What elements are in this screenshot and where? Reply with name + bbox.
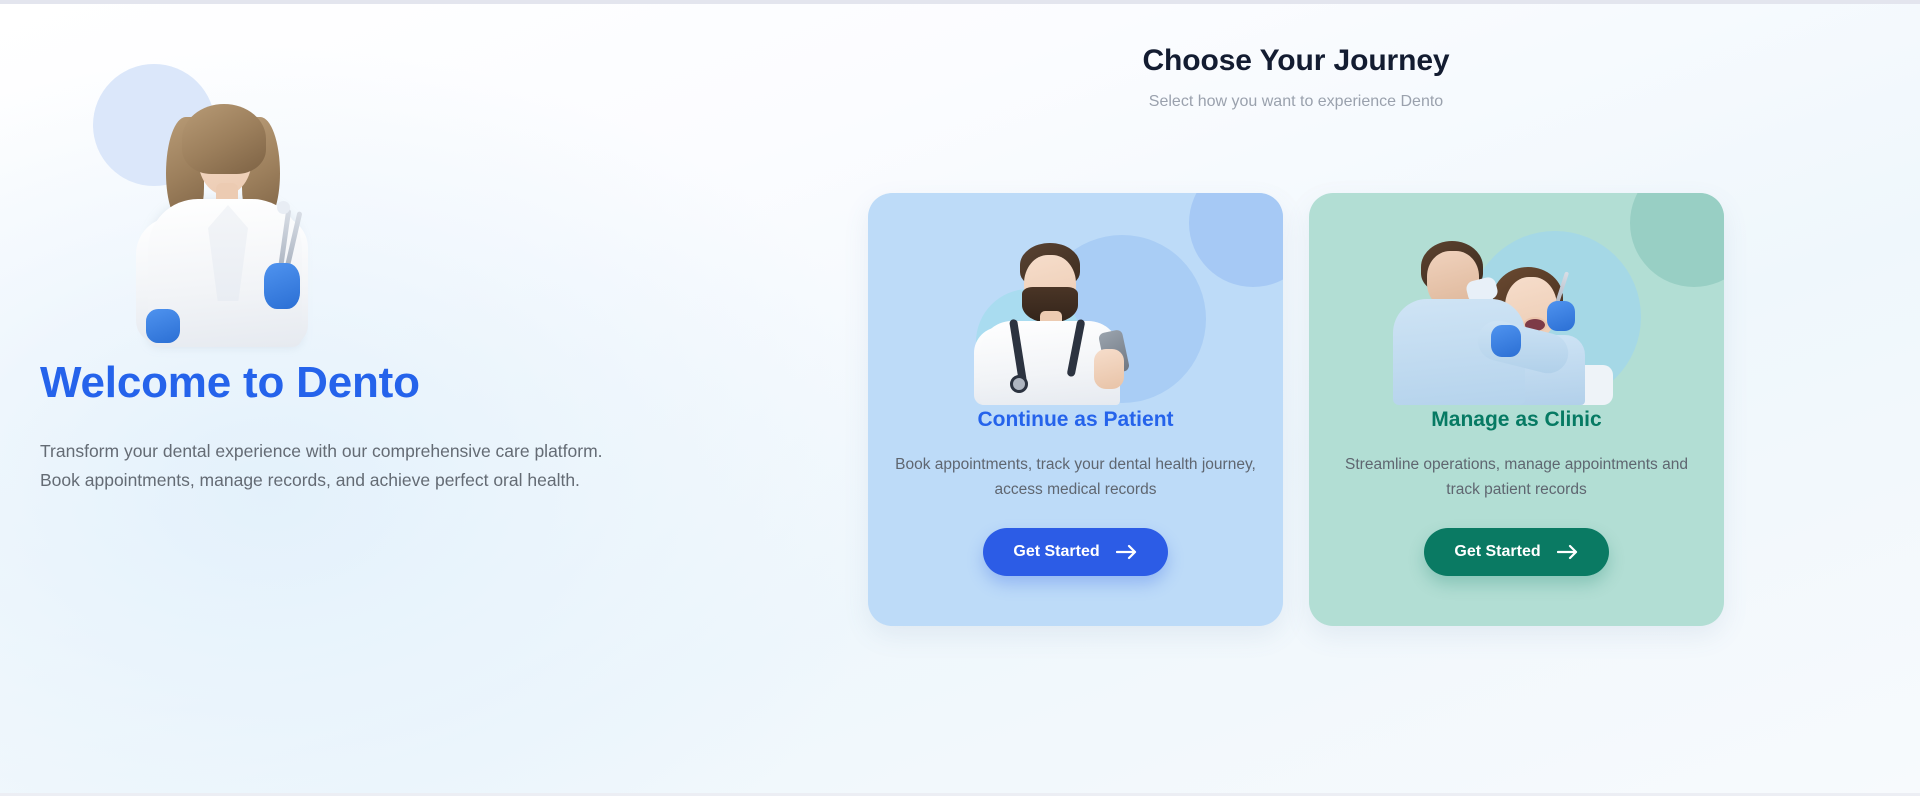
clinic-card-title: Manage as Clinic [1335, 408, 1698, 432]
figure-glove-left [146, 309, 180, 343]
patient-card-illustration [868, 215, 1283, 403]
card-continue-as-patient[interactable]: Continue as Patient Book appointments, t… [868, 193, 1283, 626]
card-manage-as-clinic[interactable]: Manage as Clinic Streamline operations, … [1309, 193, 1724, 626]
patient-get-started-button[interactable]: Get Started [983, 528, 1167, 576]
journey-cards: Continue as Patient Book appointments, t… [672, 193, 1920, 626]
dentist-glove-right [1547, 301, 1575, 331]
page-root: Welcome to Dento Transform your dental e… [0, 0, 1920, 796]
journey-subtitle: Select how you want to experience Dento [672, 93, 1920, 111]
arrow-right-icon [1116, 544, 1138, 560]
clinic-card-description: Streamline operations, manage appointmen… [1335, 452, 1698, 502]
patient-card-title: Continue as Patient [894, 408, 1257, 432]
journey-header: Choose Your Journey Select how you want … [672, 44, 1920, 111]
arrow-right-icon [1557, 544, 1579, 560]
hero-illustration [70, 59, 400, 319]
clinic-card-illustration [1309, 215, 1724, 403]
hero-copy: Welcome to Dento Transform your dental e… [40, 359, 660, 495]
figure-hair-top [182, 104, 266, 174]
hero-description: Transform your dental experience with ou… [40, 437, 625, 495]
figure-glove-right [264, 263, 300, 309]
doctor-hand [1094, 349, 1124, 389]
clinic-get-started-label: Get Started [1454, 543, 1540, 561]
stethoscope-bell-icon [1010, 375, 1028, 393]
journey-title: Choose Your Journey [672, 44, 1920, 78]
patient-get-started-label: Get Started [1013, 543, 1099, 561]
clinic-card-body: Manage as Clinic Streamline operations, … [1309, 408, 1724, 576]
clinic-get-started-button[interactable]: Get Started [1424, 528, 1608, 576]
hero-stage: Welcome to Dento Transform your dental e… [0, 4, 1920, 793]
journey-panel: Choose Your Journey Select how you want … [672, 8, 1920, 793]
patient-card-description: Book appointments, track your dental hea… [894, 452, 1257, 502]
dental-mirror-head-icon [277, 201, 290, 214]
patient-card-body: Continue as Patient Book appointments, t… [868, 408, 1283, 576]
page-title: Welcome to Dento [40, 359, 660, 407]
dentist-glove-left [1491, 325, 1521, 357]
